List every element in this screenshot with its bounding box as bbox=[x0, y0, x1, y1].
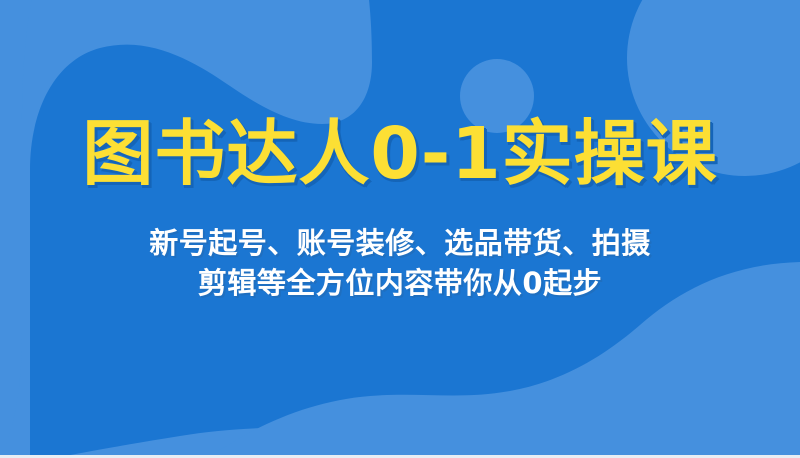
subtitle-line-2: 剪辑等全方位内容带你从0起步 bbox=[0, 263, 800, 303]
title-block: 图书达人0-1实操课 bbox=[0, 118, 800, 189]
subtitle-line-1: 新号起号、账号装修、选品带货、拍摄 bbox=[0, 223, 800, 263]
subtitle-block: 新号起号、账号装修、选品带货、拍摄 剪辑等全方位内容带你从0起步 bbox=[0, 223, 800, 303]
course-promo-banner: 图书达人0-1实操课 新号起号、账号装修、选品带货、拍摄 剪辑等全方位内容带你从… bbox=[0, 0, 800, 458]
page-title: 图书达人0-1实操课 bbox=[82, 118, 717, 189]
banner-content: 图书达人0-1实操课 新号起号、账号装修、选品带货、拍摄 剪辑等全方位内容带你从… bbox=[0, 0, 800, 458]
